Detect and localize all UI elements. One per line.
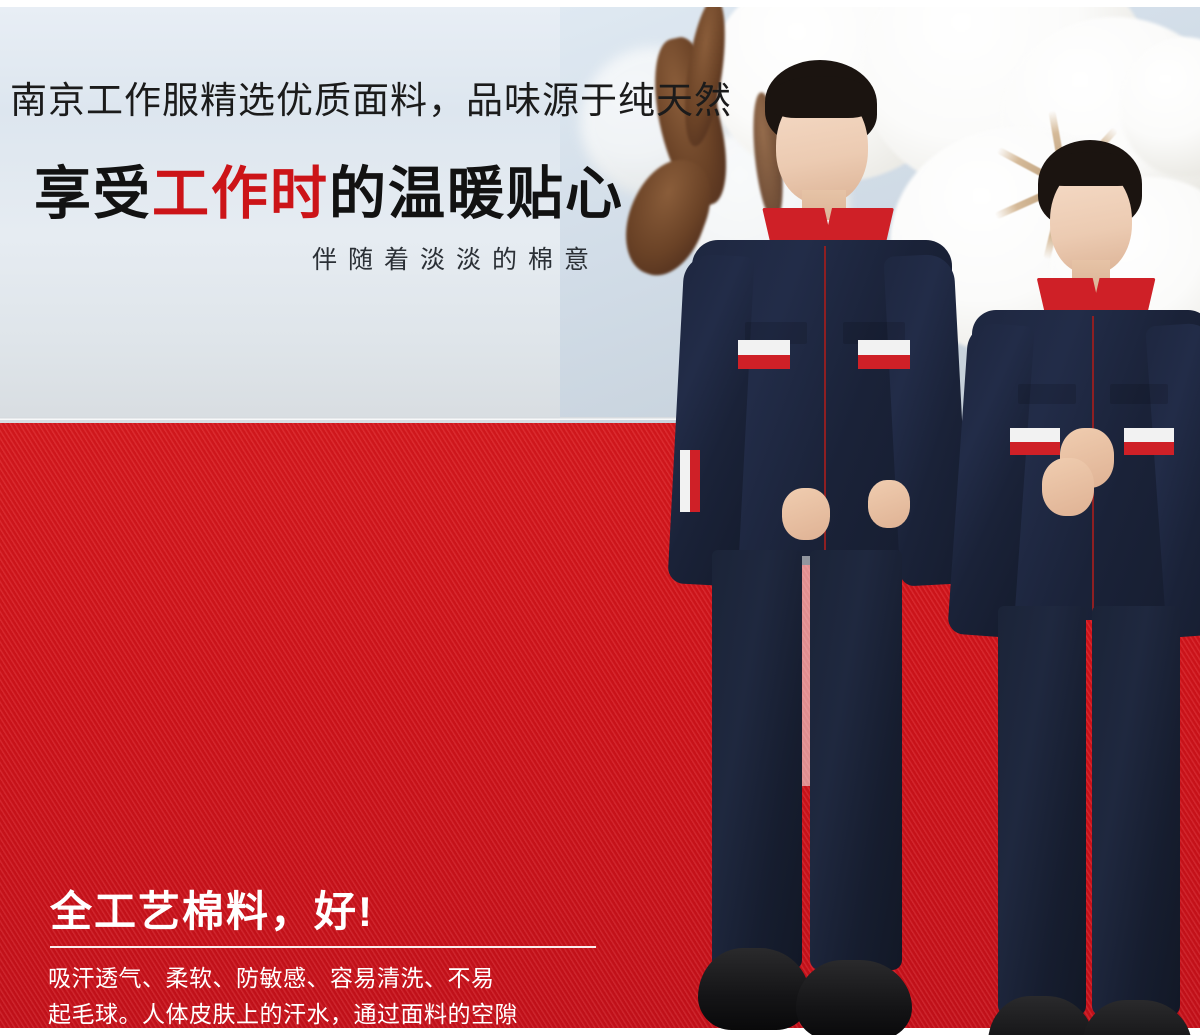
chest-pocket-flap — [1110, 384, 1168, 404]
body-line: 吸汗透气、柔软、防敏感、容易清洗、不易 — [48, 960, 668, 996]
male-model — [640, 50, 940, 1035]
chest-stripe-red — [858, 355, 910, 369]
chest-stripe-white — [1124, 428, 1174, 442]
red-section-body: 吸汗透气、柔软、防敏感、容易清洗、不易 起毛球。人体皮肤上的汗水，通过面料的空隙… — [48, 960, 668, 1028]
trouser-gap-highlight — [802, 556, 810, 786]
trousers-left-leg — [998, 606, 1086, 1016]
hair-fringe — [770, 76, 874, 118]
hand — [868, 480, 910, 528]
trousers-right-leg — [810, 550, 902, 970]
side-stripe-white — [680, 450, 690, 512]
hand — [782, 488, 830, 540]
chest-pocket-flap — [1018, 384, 1076, 404]
red-section-title: 全工艺棉料，好! — [50, 878, 374, 939]
chest-stripe-red — [738, 355, 790, 369]
top-white-strip — [0, 0, 1200, 7]
work-shoe — [796, 960, 912, 1035]
headline-primary: 南京工作服精选优质面料，品味源于纯天然 — [10, 70, 732, 124]
body-line: 起毛球。人体皮肤上的汗水，通过面料的空隙 — [48, 996, 668, 1028]
side-stripe-red — [690, 450, 700, 512]
chest-stripe-red — [1124, 442, 1174, 455]
chest-stripe-white — [858, 340, 910, 355]
subheadline: 伴随着淡淡的棉意 — [312, 240, 600, 276]
headline-secondary: 享受工作时的温暖贴心 — [34, 148, 624, 230]
female-model — [910, 128, 1200, 1035]
headline-secondary-part2: 的温暖贴心 — [329, 162, 624, 226]
chest-stripe-white — [738, 340, 790, 355]
headline-secondary-part1: 享受 — [34, 162, 152, 226]
chest-stripe-white — [1010, 428, 1060, 442]
hand-clasped — [1042, 458, 1094, 516]
chest-stripe-red — [1010, 442, 1060, 455]
trousers-left-leg — [712, 550, 802, 970]
model-photography-group — [640, 50, 1200, 1035]
red-section-divider — [50, 946, 596, 948]
work-shoe — [698, 948, 810, 1030]
trousers-right-leg — [1092, 606, 1180, 1016]
headline-secondary-accent: 工作时 — [152, 162, 329, 226]
promotional-banner: 南京工作服精选优质面料，品味源于纯天然 享受工作时的温暖贴心 伴随着淡淡的棉意 — [0, 0, 1200, 1035]
hair-parting — [1044, 152, 1138, 186]
